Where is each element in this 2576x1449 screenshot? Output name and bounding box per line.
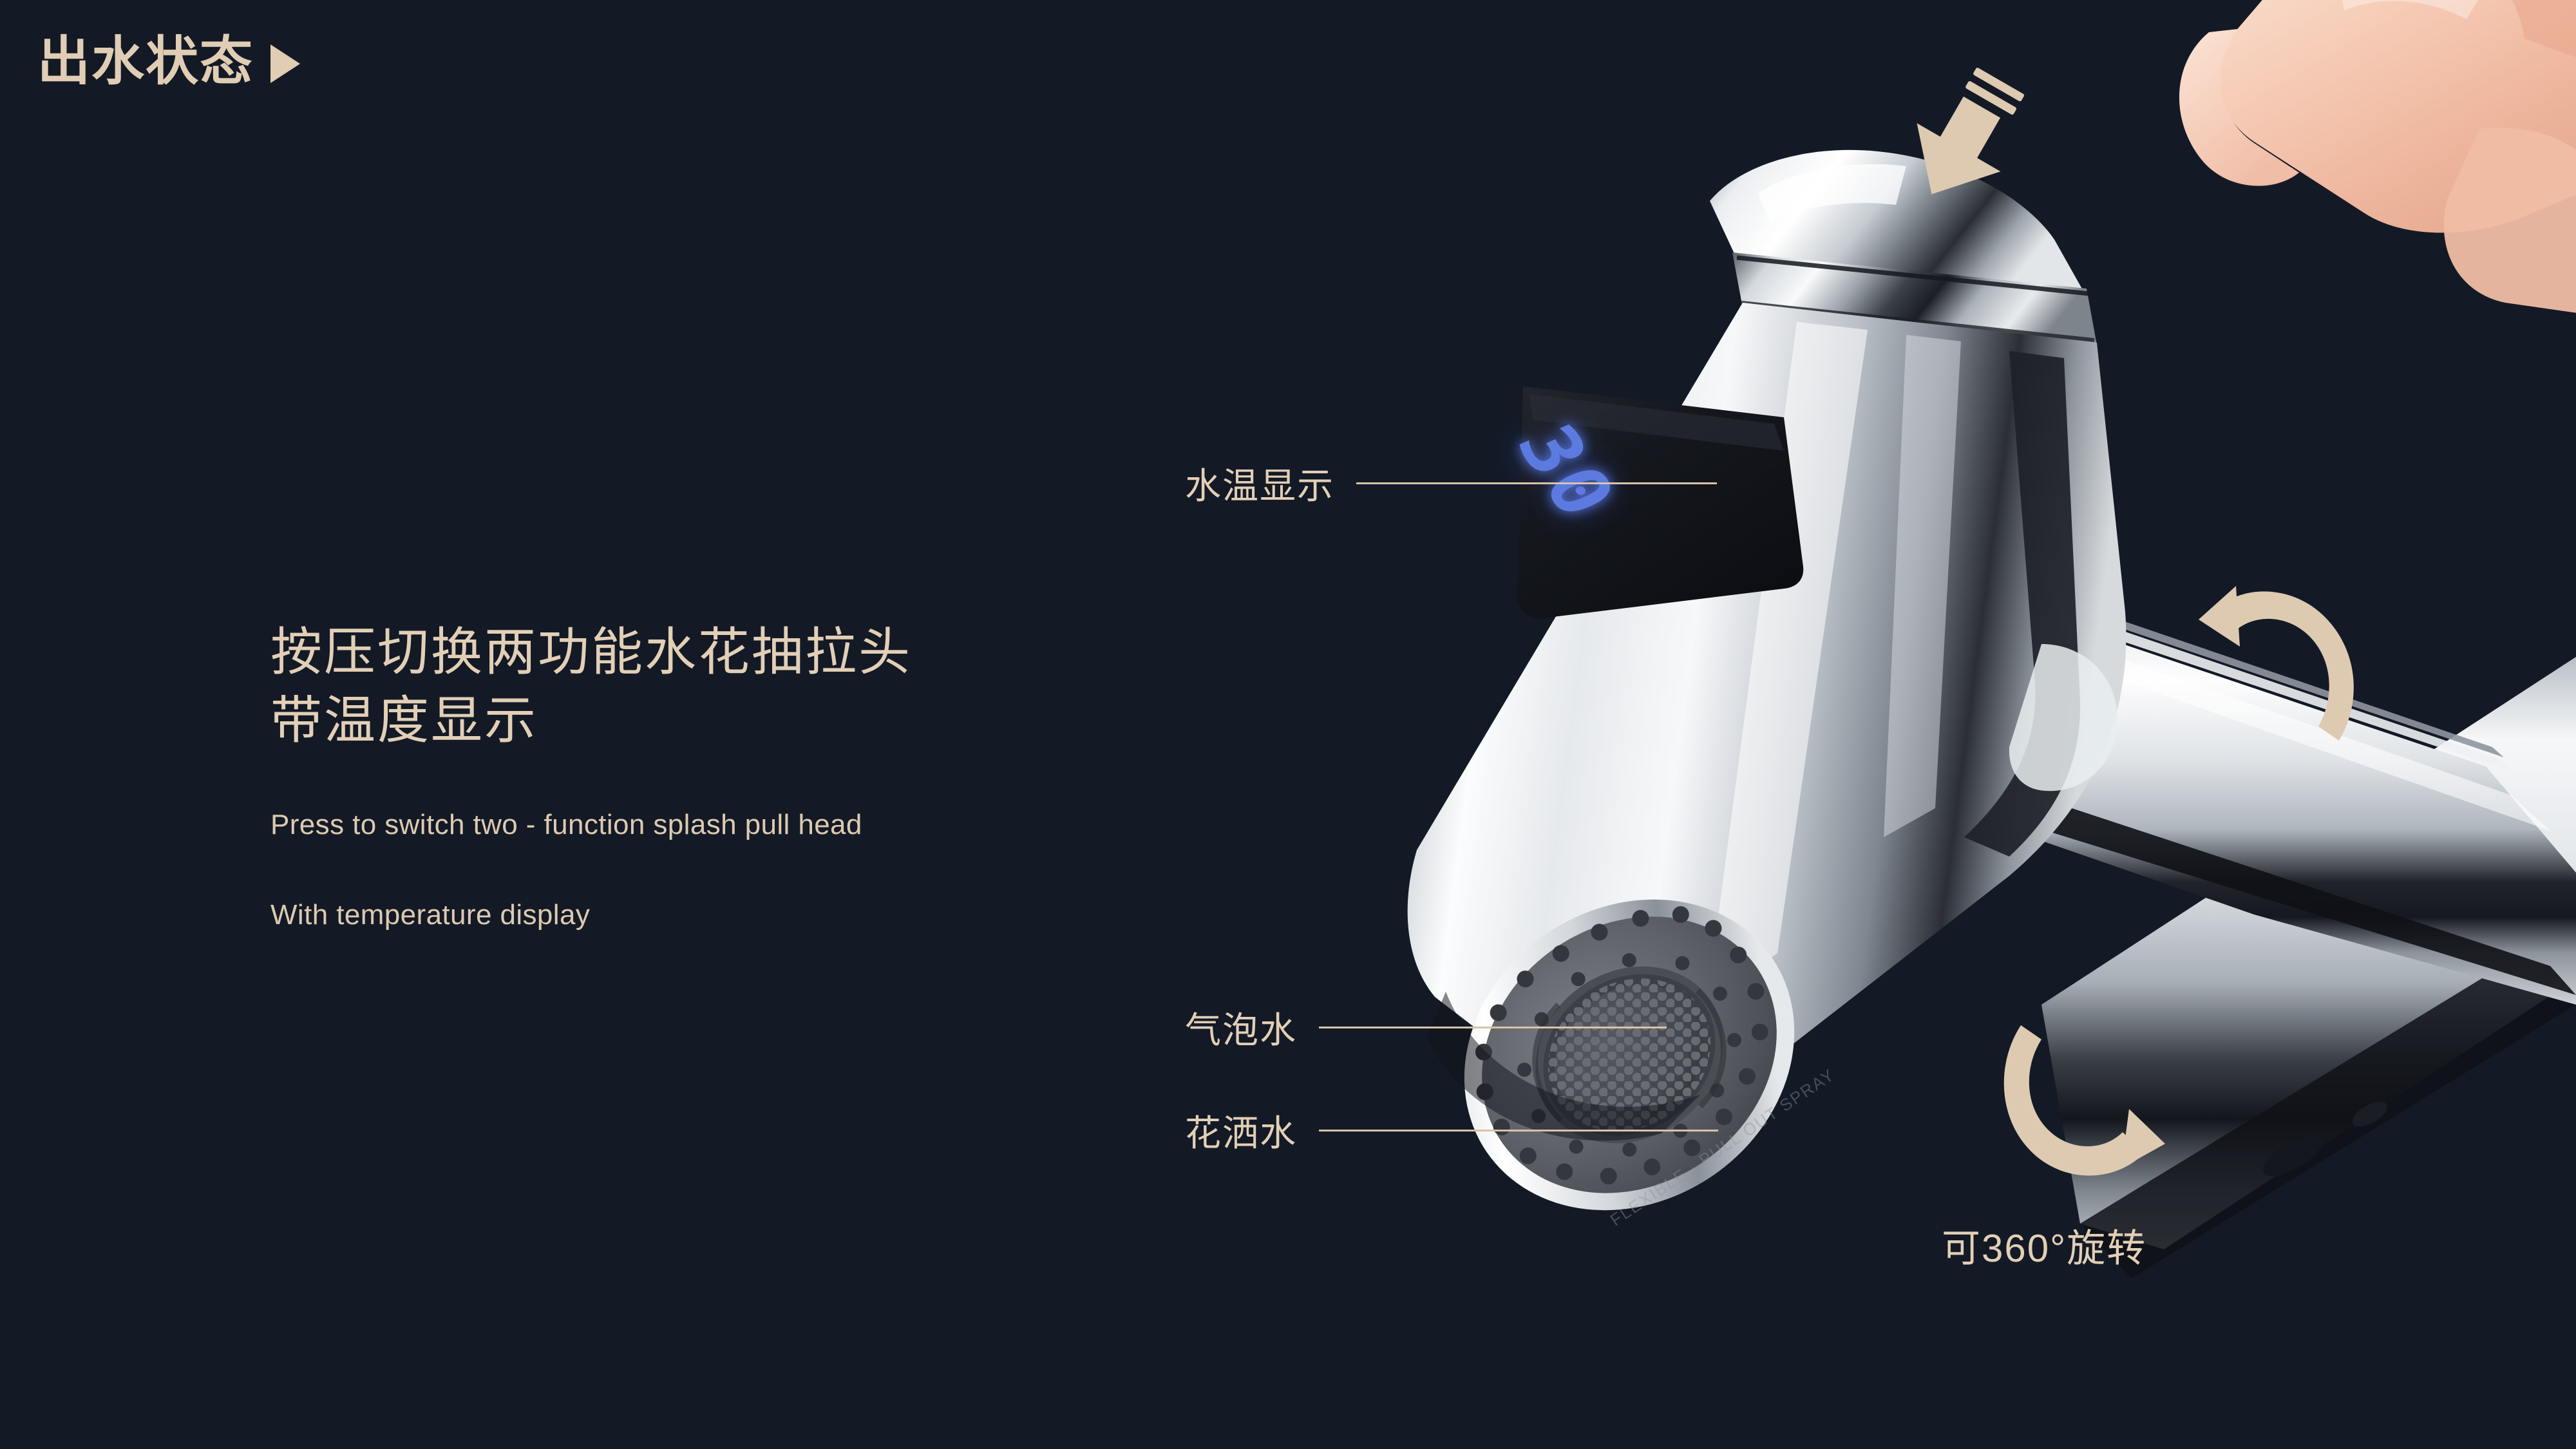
rotation-label: 可360°旋转 xyxy=(1942,1217,2146,1273)
callout-shower-water: 花洒水 xyxy=(1185,1104,1718,1157)
play-triangle-icon xyxy=(270,44,300,83)
leader-line xyxy=(1319,1130,1718,1132)
leader-line xyxy=(1319,1027,1667,1028)
page-title: 出水状态 xyxy=(37,35,254,88)
feature-copy-block: 按压切换两功能水花抽拉头 带温度显示 Press to switch two -… xyxy=(270,618,912,935)
page-header: 出水状态 xyxy=(37,35,300,88)
rotate-counterclockwise-icon xyxy=(2190,580,2370,757)
callout-temperature-display: 水温显示 xyxy=(1185,457,1717,509)
subhead-en-line2: With temperature display xyxy=(270,895,912,936)
press-down-arrow-icon xyxy=(1880,61,2029,213)
leader-line xyxy=(1356,482,1717,484)
callout-label: 花洒水 xyxy=(1185,1104,1297,1157)
headline-cn-line2: 带温度显示 xyxy=(270,687,912,755)
headline-cn-line1: 按压切换两功能水花抽拉头 xyxy=(270,618,912,687)
hand-finger-icon xyxy=(1951,0,2576,357)
callout-label: 水温显示 xyxy=(1185,457,1334,509)
subhead-en-line1: Press to switch two - function splash pu… xyxy=(270,804,912,846)
callout-bubble-water: 气泡水 xyxy=(1185,1001,1667,1054)
product-feature-slide: FLEXIBLE · PULL OUT SPRAY 30 xyxy=(0,0,2576,1449)
rotate-clockwise-icon xyxy=(1990,1011,2177,1195)
callout-label: 气泡水 xyxy=(1185,1001,1297,1054)
